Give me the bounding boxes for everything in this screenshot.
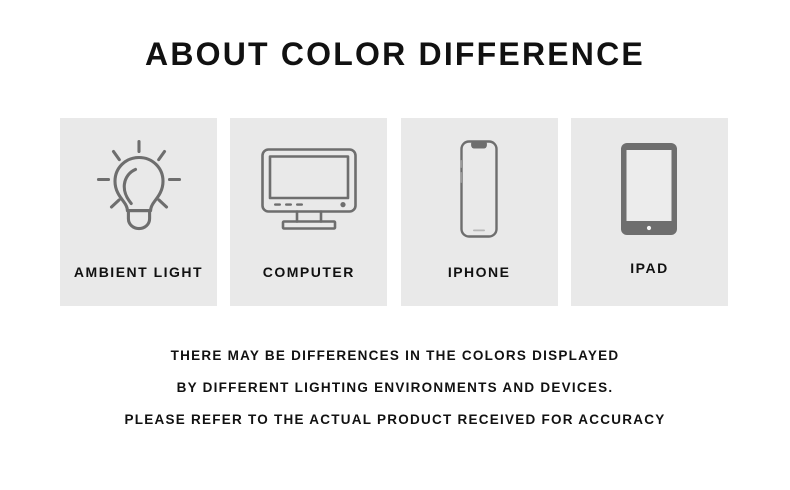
device-card-label: AMBIENT LIGHT (60, 264, 217, 280)
disclaimer-line-3: PLEASE REFER TO THE ACTUAL PRODUCT RECEI… (0, 404, 790, 436)
device-card-list: AMBIENT LIGHT (60, 118, 728, 306)
device-card-ambient-light: AMBIENT LIGHT (60, 118, 217, 306)
disclaimer-line-1: THERE MAY BE DIFFERENCES IN THE COLORS D… (0, 340, 790, 372)
color-difference-notice: ABOUT COLOR DIFFERENCE (0, 0, 790, 490)
tablet-icon (571, 118, 728, 260)
disclaimer-text: THERE MAY BE DIFFERENCES IN THE COLORS D… (0, 340, 790, 436)
smartphone-icon (401, 118, 558, 260)
device-card-label: COMPUTER (230, 264, 387, 280)
device-card-label: IPAD (571, 260, 728, 276)
device-card-label: IPHONE (401, 264, 558, 280)
disclaimer-line-2: BY DIFFERENT LIGHTING ENVIRONMENTS AND D… (0, 372, 790, 404)
page-title: ABOUT COLOR DIFFERENCE (0, 34, 790, 74)
device-card-iphone: IPHONE (401, 118, 558, 306)
lightbulb-icon (60, 118, 217, 260)
monitor-icon (230, 118, 387, 260)
device-card-ipad: IPAD (571, 118, 728, 306)
device-card-computer: COMPUTER (230, 118, 387, 306)
